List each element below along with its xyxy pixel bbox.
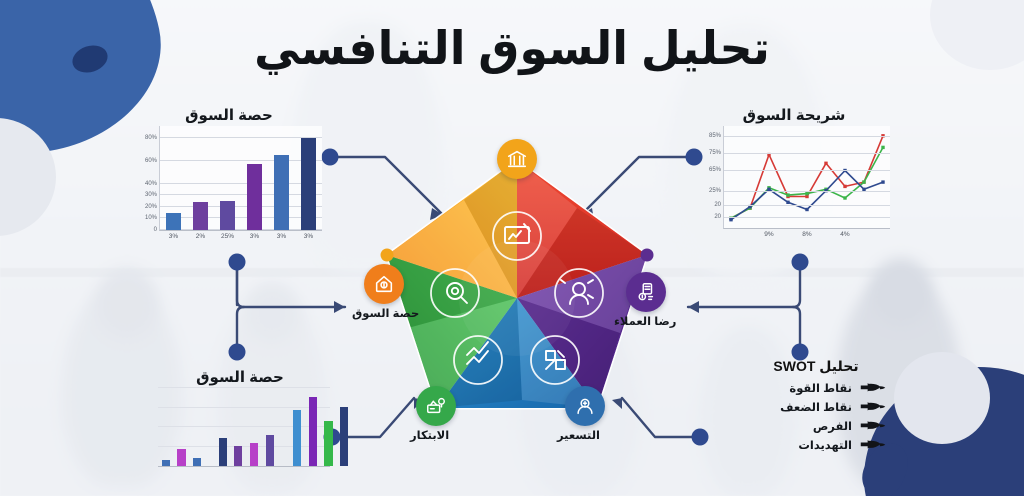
pointing-hand-icon [860,439,886,452]
infographic-canvas: تحليل السوق التنافسي [0,0,1024,496]
x-axis-tick: 9% [764,231,773,238]
bar [309,397,317,466]
y-axis-tick: 65% [709,167,721,173]
market-share-icon[interactable] [364,264,404,304]
gridline [724,153,890,154]
gridline [160,137,322,138]
bar [293,410,301,466]
swot-item[interactable]: نقاط الضعف [746,400,886,414]
gridline [160,206,322,207]
swot-item[interactable]: الفرص [746,419,886,433]
data-point [805,208,808,211]
bar [193,458,201,466]
gridline [158,446,330,447]
node-innovation[interactable]: الابتكار [416,386,456,426]
pentagon-segments [387,160,647,408]
data-point [824,162,827,165]
bar [177,449,185,466]
gridline [160,194,322,195]
connector-dot-top-left [322,149,339,166]
y-axis-tick: 85% [709,133,721,139]
swot-title-arabic: تحليل [819,358,858,374]
x-axis-tick: 8% [802,231,811,238]
bar [266,435,274,466]
swot-list: نقاط القوةنقاط الضعفالفرصالتهديدات [746,381,886,452]
node-label-market-share: حصة السوق [352,306,419,320]
bank-institution-icon[interactable] [497,139,537,179]
chart-market-share-bars: حصة السوق 010%20%30%40%60%80%3%2%25%3%3%… [136,106,322,231]
gridline [724,170,890,171]
swot-item[interactable]: التهديدات [746,438,886,452]
bar [162,460,170,466]
customer-satisfaction-icon[interactable] [626,272,666,312]
bar [193,202,209,230]
y-axis-tick: 80% [145,135,157,141]
swot-title-latin: SWOT [773,358,815,374]
node-customer-satisfaction[interactable]: رضا العملاء [626,272,666,312]
bar [340,407,348,466]
gridline [724,191,890,192]
data-point [843,185,846,188]
x-axis-tick: 2% [196,233,205,240]
bar [219,438,227,466]
connector-dot-mid-right-upper [792,254,809,271]
bar [234,446,242,466]
x-axis-tick: 4% [840,231,849,238]
y-axis-tick: 10% [145,215,157,221]
gridline [158,387,330,388]
chart-market-segment: شريحة السوق 202025%65%75%85%9%8%4% [698,106,890,229]
gridline [160,160,322,161]
data-point [786,193,789,196]
data-point [881,146,884,149]
pointing-hand-icon [860,401,886,414]
chart-market-share-grouped: حصة السوق [150,368,330,467]
chart-title-top-right: شريحة السوق [698,106,890,124]
y-axis-tick: 60% [145,158,157,164]
x-axis-tick: 3% [250,233,259,240]
chart-title-bottom-left: حصة السوق [150,368,330,386]
swot-item-label: التهديدات [798,438,852,452]
x-axis-tick: 3% [304,233,313,240]
connector-dot-mid-left-upper [229,254,246,271]
swot-item-label: الفرص [813,419,852,433]
data-point [881,180,884,183]
swot-item[interactable]: نقاط القوة [746,381,886,395]
swot-item-label: نقاط القوة [789,381,852,395]
line-chart-svg [724,126,890,228]
y-axis-tick: 30% [145,192,157,198]
bar [166,213,182,230]
node-label-innovation: الابتكار [410,428,449,442]
node-market-share[interactable]: حصة السوق [364,264,404,304]
y-axis-tick: 20 [714,214,721,220]
bar [250,443,258,466]
bar [324,421,332,466]
bar [301,138,317,230]
data-point [786,201,789,204]
bar [274,155,290,230]
data-point [805,195,808,198]
x-axis-tick: 3% [277,233,286,240]
y-axis-tick: 0 [154,227,157,233]
data-point [805,192,808,195]
node-top[interactable] [497,139,537,179]
bar [220,201,236,230]
gridline [160,183,322,184]
gridline [724,136,890,137]
y-axis-tick: 20% [145,204,157,210]
node-label-customer-satisfaction: رضا العملاء [614,314,676,328]
pointing-hand-icon [860,420,886,433]
data-point [729,218,732,221]
plot-area-top-left: 010%20%30%40%60%80%3%2%25%3%3%3% [159,126,322,231]
gridline [158,426,330,427]
pricing-user-icon[interactable] [565,386,605,426]
connector-dot-mid-left-lower [229,344,246,361]
innovation-icon[interactable] [416,386,456,426]
data-point [843,196,846,199]
y-axis-tick: 25% [709,188,721,194]
y-axis-tick: 40% [145,181,157,187]
y-axis-tick: 20 [714,202,721,208]
plot-area-top-right: 202025%65%75%85%9%8%4% [723,126,890,229]
gridline [160,217,322,218]
swot-analysis-block: تحليل SWOT نقاط القوةنقاط الضعفالفرصالته… [746,358,886,457]
x-axis-tick: 25% [221,233,234,240]
bar [247,164,263,230]
plot-area-bottom-left [158,388,330,467]
gridline [158,407,330,408]
pointing-hand-icon [860,382,886,395]
page-title: تحليل السوق التنافسي [0,24,1024,72]
data-point [862,180,865,183]
gridline [160,229,322,230]
swot-title: تحليل SWOT [746,358,886,375]
gridline [724,217,890,218]
node-pricing[interactable]: التسعير [565,386,605,426]
gridline [724,205,890,206]
node-label-pricing: التسعير [557,428,600,442]
connector-dot-bottom-right [692,429,709,446]
chart-title-top-left: حصة السوق [136,106,322,124]
y-axis-tick: 75% [709,150,721,156]
swot-item-label: نقاط الضعف [780,400,852,414]
x-axis-tick: 3% [169,233,178,240]
